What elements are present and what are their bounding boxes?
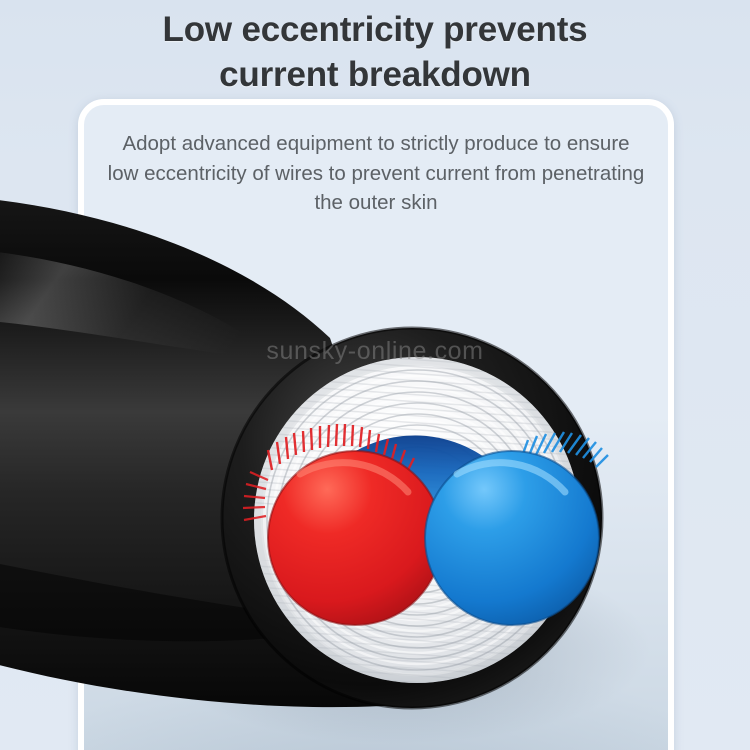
- card-description: Adopt advanced equipment to strictly pro…: [84, 129, 668, 218]
- headline-line-1: Low eccentricity prevents: [163, 10, 588, 49]
- page-title: Low eccentricity prevents current breakd…: [0, 8, 750, 98]
- info-card: Adopt advanced equipment to strictly pro…: [78, 99, 674, 750]
- headline-line-2: current breakdown: [0, 53, 750, 98]
- product-feature-image: Low eccentricity prevents current breakd…: [0, 0, 750, 750]
